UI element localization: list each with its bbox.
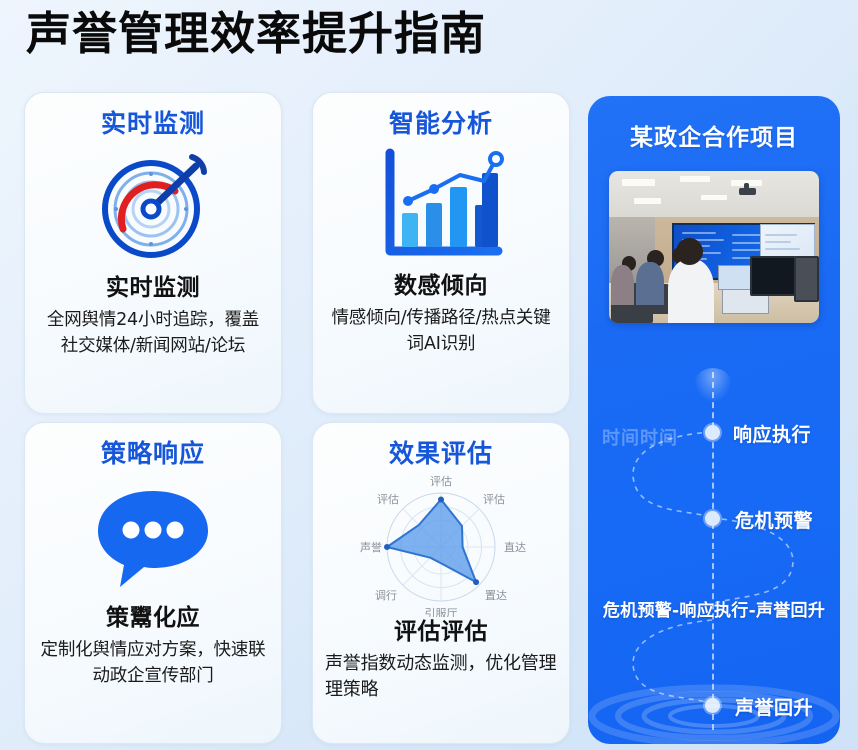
timeline-ghost-label: 时间时间	[602, 424, 678, 450]
timeline-label-2: 危机预警	[735, 506, 813, 533]
case-study-photo	[609, 171, 819, 323]
feature-card-strategy-response[interactable]: 策略响应 策鬻化应 定制化舆情应对方案，快速联动政企宣传部门	[24, 422, 282, 744]
radar-axis-label: 评估	[483, 493, 505, 506]
radar-axis-label: 直达	[504, 540, 526, 554]
panel-title: 某政企合作项目	[588, 118, 840, 152]
feature-card-grid: 实时监测 实时监测 全网舆情24小时追踪，覆盖社交媒体/新闻网站/论坛 智	[24, 92, 570, 744]
feature-card-effect-evaluation[interactable]: 效果评估	[312, 422, 570, 744]
card-description: 全网舆情24小时追踪，覆盖社交媒体/新闻网站/论坛	[35, 307, 271, 359]
radar-axis-label: 评估	[430, 475, 452, 488]
radar-axis-label: 调行	[375, 589, 397, 602]
timeline-label-3: 声誉回升	[735, 693, 813, 720]
radar-chart-icon: 评估 评估 直达 置达 引服厅 调行 声誉 评估	[333, 467, 549, 617]
radar-chart-svg: 评估 评估 直达 置达 引服厅 调行 声誉 评估	[333, 467, 549, 617]
radar-axis-label: 置达	[485, 589, 507, 602]
radar-gauge-icon	[93, 143, 213, 271]
card-title: 效果评估	[389, 439, 493, 469]
timeline-node-1[interactable]	[705, 425, 720, 440]
timeline-caption: 危机预警-响应执行-声誉回升	[588, 596, 840, 621]
radar-axis-label: 声誉	[360, 540, 382, 554]
card-description: 情感倾向/传播路径/热点关键词AI识别	[323, 305, 559, 357]
timeline: 时间时间 响应执行 危机预警 危机预警-响应执行-声誉回升 声誉回升	[588, 384, 840, 744]
card-title: 策略响应	[101, 439, 205, 469]
chat-bubble-icon	[90, 473, 216, 601]
card-title: 实时监测	[101, 109, 205, 139]
bar-line-chart-icon	[378, 143, 504, 269]
card-description: 声誉指数动态监测，优化管理理策略	[323, 651, 559, 703]
timeline-label-1: 响应执行	[733, 420, 811, 447]
card-subtitle: 评估评估	[394, 617, 488, 647]
card-subtitle: 数感倾向	[394, 271, 488, 301]
card-subtitle: 实时监测	[106, 273, 200, 303]
page-title: 声誉管理效率提升指南	[26, 4, 486, 64]
card-subtitle: 策鬻化应	[106, 603, 200, 633]
card-title: 智能分析	[389, 109, 493, 139]
feature-card-realtime-monitoring[interactable]: 实时监测 实时监测 全网舆情24小时追踪，覆盖社交媒体/新闻网站/论坛	[24, 92, 282, 414]
card-description: 定制化舆情应对方案，快速联动政企宣传部门	[35, 637, 271, 689]
radar-axis-label: 引服厅	[425, 606, 458, 617]
feature-card-intelligent-analysis[interactable]: 智能分析	[312, 92, 570, 414]
timeline-node-3[interactable]	[705, 698, 720, 713]
radar-axis-label: 评估	[377, 493, 399, 506]
case-study-panel: 某政企合作项目	[588, 96, 840, 744]
timeline-node-2[interactable]	[705, 511, 720, 526]
